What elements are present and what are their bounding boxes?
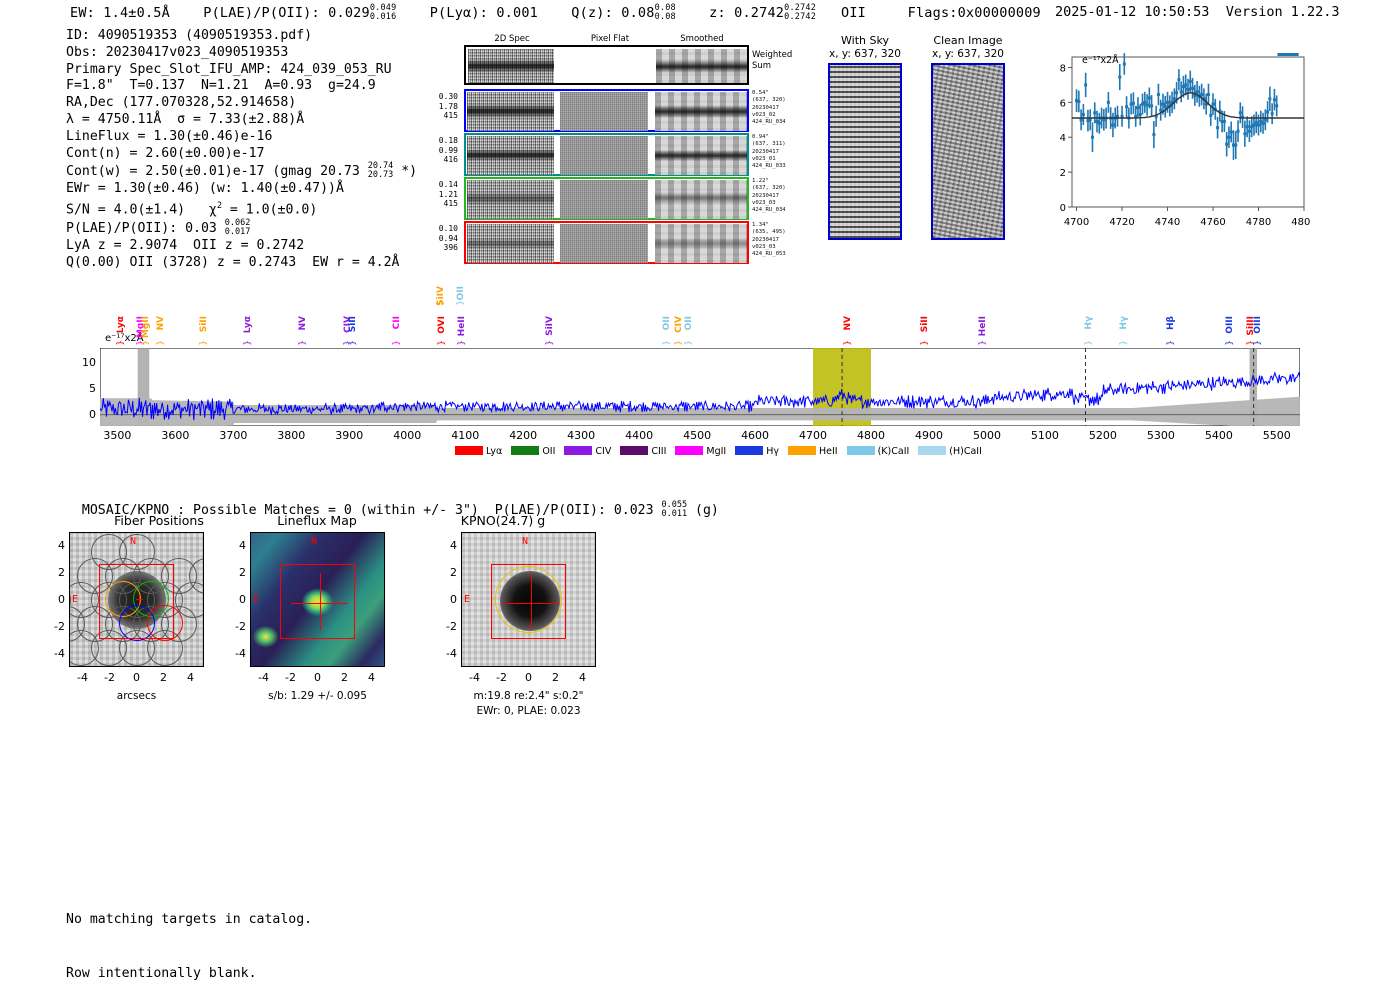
info-q-line: Q(0.00) OII (3728) z = 0.2743 EW r = 4.2… [66,255,417,272]
header-plae-range: 0.0490.016 [370,4,397,21]
legend-entry: MgII [675,446,726,457]
spec-row-2-2dspec [467,136,554,175]
cutout-y-tick: 2 [45,566,65,579]
header-z-label: z: 0.2742 [709,5,784,21]
legend-entry: (K)CaII [847,446,910,457]
main-spectrum-y-tick: 0 [76,408,96,421]
lineflux-map-compass-e: E [253,594,259,605]
main-spectrum-x-tick: 4800 [849,429,893,442]
spec-row-4-smoothed [655,224,747,263]
main-spectrum-x-tick: 4000 [385,429,429,442]
cutout-y-tick: -2 [437,620,457,633]
kpno-aperture-circle [495,566,562,633]
svg-text:4720: 4720 [1109,217,1134,228]
spec-row-2-left-labels: 0.180.99416 [428,136,458,165]
line-id-label: SiIV [545,316,555,336]
panel-title-smoothed: Smoothed [662,34,742,44]
object-info-block: ID: 4090519353 (4090519353.pdf) Obs: 202… [66,28,417,272]
line-id-label: Hγ [1084,316,1094,330]
line-id-bracket: } [1225,340,1235,346]
line-id-bracket: } [199,340,209,346]
fiber-positions-compass-n: N [130,536,136,547]
info-seeing: F=1.8" T=0.137 N=1.21 A=0.93 g=24.9 [66,78,417,95]
legend-label: CIII [651,446,666,457]
legend-label: Lyα [486,446,502,457]
line-id-label: SiII [348,316,358,332]
header-datetime: 2025-01-12 10:50:53 [1055,4,1209,20]
line-id-label: OII [684,316,694,330]
main-spectrum-x-tick: 3500 [95,429,139,442]
line-id-label: SiII [199,316,209,332]
line-id-bracket: } [674,340,684,346]
cutout-x-tick: 2 [152,671,176,684]
line-id-label: NV [843,316,853,331]
main-spectrum-x-tick: 5400 [1197,429,1241,442]
legend-label: Hγ [766,446,779,457]
info-plae: P(LAE)/P(OII): 0.03 0.0620.017 [66,219,417,238]
main-spectrum-x-tick: 4700 [791,429,835,442]
main-spectrum-x-tick: 5000 [965,429,1009,442]
header-version: Version 1.22.3 [1226,4,1340,20]
line-id-label: Lyα [116,316,126,333]
legend-entry: HeII [788,446,838,457]
spec-row-1-2dspec [467,92,554,131]
info-primary-spec: Primary Spec_Slot_IFU_AMP: 424_039_053_R… [66,62,417,79]
line-id-bracket: } [348,340,358,346]
main-spectrum-x-tick: 4200 [501,429,545,442]
spec-row-2 [464,133,749,176]
info-ewr: EWr = 1.30(±0.46) (w: 1.40(±0.47))Å [66,181,417,198]
spec-row-4 [464,221,749,264]
line-id-label: OIII [1225,316,1235,334]
cutout-y-tick: 0 [437,593,457,606]
cutout-x-tick: 0 [517,671,541,684]
cutout-y-tick: -4 [437,647,457,660]
main-spectrum-x-tick: 3900 [327,429,371,442]
info-cont-n: Cont(n) = 2.60(±0.00)e-17 [66,146,417,163]
kpno-image [461,532,596,667]
spec-row-1-left-labels: 0.301.78415 [428,92,458,121]
line-id-label: NV [156,316,166,331]
cutout-clean-image-title: Clean Image [920,34,1016,47]
line-id-bracket: } [1119,340,1129,346]
line-id-label: OII [662,316,672,330]
full-spectrum-svg [100,348,1300,426]
legend-swatch [675,446,703,455]
svg-text:4780: 4780 [1246,217,1271,228]
legend-swatch [511,446,539,455]
line-id-label: MgII [141,316,151,338]
header-timestamp-version: 2025-01-12 10:50:53 Version 1.22.3 [1055,4,1340,20]
header-flags: Flags:0x00000009 [908,5,1041,21]
main-spectrum-x-tick: 3600 [153,429,197,442]
fiber-positions-red-square [99,564,174,639]
header-plya: P(Lyα): 0.001 [430,5,538,21]
cutout-y-tick: -4 [45,647,65,660]
main-spectrum-x-tick: 4600 [733,429,777,442]
legend-entry: OII [511,446,555,457]
legend-swatch [788,446,816,455]
main-spectrum-x-tick: 5500 [1255,429,1299,442]
cutout-y-tick: 0 [226,593,246,606]
legend-swatch [620,446,648,455]
footer-text: No matching targets in catalog. Row inte… [66,875,312,1001]
fiber-positions-xlabel: arcsecs [69,690,204,702]
footer-line-1: No matching targets in catalog. [66,911,312,929]
weighted-sum-smoothed-image [656,49,747,83]
cutout-x-tick: -2 [98,671,122,684]
info-snr: S/N = 4.0(±1.4) χ2 = 1.0(±0.0) [66,198,417,219]
line-id-label: OII [456,286,466,300]
info-id: ID: 4090519353 (4090519353.pdf) [66,28,417,45]
line-id-bracket: } [456,300,466,306]
cutout-with-sky-coords: x, y: 637, 320 [820,48,910,60]
legend-swatch [918,446,946,455]
line-id-bracket: } [243,340,253,346]
cutout-y-tick: 4 [45,539,65,552]
lineflux-map-red-square [280,564,355,639]
cutout-y-tick: 0 [45,593,65,606]
main-spectrum-x-tick: 5200 [1081,429,1125,442]
line-id-bracket: } [1084,340,1094,346]
cutout-x-tick: 2 [544,671,568,684]
cutout-x-tick: -2 [279,671,303,684]
legend-label: MgII [706,446,726,457]
header-z-type: OII [841,5,866,21]
lineflux-map-caption: s/b: 1.29 +/- 0.095 [250,690,385,702]
kpno-compass-e: E [464,594,470,605]
spec-row-3-2dspec [467,180,554,219]
legend-swatch [455,446,483,455]
main-spectrum-y-tick: 5 [76,382,96,395]
line-id-label: Hγ [1119,316,1129,330]
cutout-clean-image-image [931,63,1005,240]
line-id-label: OIII [1253,316,1263,334]
header-ew: EW: 1.4±0.5Å [70,5,170,21]
spec-row-2-pixelflat [560,136,648,175]
line-id-bracket: } [684,340,694,346]
header-plae-label: P(LAE)/P(OII): 0.029 [203,5,370,21]
cutout-x-tick: 0 [125,671,149,684]
legend-entry: (H)CaII [918,446,982,457]
line-id-bracket: } [1166,340,1176,346]
svg-text:4740: 4740 [1155,217,1180,228]
line-id-bracket: } [662,340,672,346]
main-spectrum-x-tick: 5100 [1023,429,1067,442]
svg-text:0: 0 [1060,203,1066,214]
legend-entry: CIII [620,446,666,457]
lineflux-map-title: Lineflux Map [222,513,412,528]
info-obs: Obs: 20230417v023_4090519353 [66,45,417,62]
spec-row-3 [464,177,749,220]
legend-label: (H)CaII [949,446,982,457]
line-id-label: HeII [978,316,988,336]
spec-row-3-smoothed [655,180,747,219]
cutout-clean-image-coords: x, y: 637, 320 [920,48,1016,60]
emission-line-fit-svg: 02468 470047204740476047804800 [1040,53,1310,258]
header-z-range: 0.27420.2742 [784,4,816,21]
line-id-label: Hβ [1166,316,1176,330]
line-id-bracket: } [1253,340,1263,346]
emission-line-fit-plot: 02468 470047204740476047804800 e⁻¹⁷x2Å [1040,53,1310,213]
line-id-bracket: } [392,340,402,346]
legend-entry: Lyα [455,446,502,457]
weighted-sum-label: WeightedSum [752,50,792,71]
line-id-bracket: } [457,340,467,346]
cutout-x-tick: -4 [252,671,276,684]
line-id-bracket: } [436,300,446,306]
inset-ylabel: e⁻¹⁷x2Å [1082,55,1119,66]
line-id-label: CII [392,316,402,329]
spec-row-4-left-labels: 0.100.94396 [428,224,458,253]
main-spectrum-x-tick: 3800 [269,429,313,442]
main-spectrum-x-tick: 5300 [1139,429,1183,442]
svg-text:4800: 4800 [1291,217,1310,228]
line-id-bracket: } [843,340,853,346]
main-spectrum-x-tick: 4100 [443,429,487,442]
spec-row-3-left-labels: 0.141.21415 [428,180,458,209]
spec-row-1-smoothed [655,92,747,131]
lineflux-map-compass-n: N [311,536,317,547]
line-id-label: NV [298,316,308,331]
spec-row-4-2dspec [467,224,554,263]
cutout-y-tick: 2 [437,566,457,579]
spec-row-4-pixelflat [560,224,648,263]
svg-text:4760: 4760 [1200,217,1225,228]
legend-label: CIV [595,446,611,457]
line-id-label: Lyα [243,316,253,333]
line-id-label: CIV [674,316,684,333]
spec-row-1-meta: 0.54"(637, 320)20230417v023_02424_RU_034 [752,90,786,126]
spec-row-2-meta: 0.94"(637, 311)20230417v023_01424_RU_033 [752,134,786,170]
svg-text:4: 4 [1060,133,1066,144]
main-spectrum-x-tick: 3700 [211,429,255,442]
legend-label: OII [542,446,555,457]
cutout-x-tick: -4 [71,671,95,684]
kpno-title: KPNO(24.7) g [408,513,598,528]
legend-swatch [847,446,875,455]
cutout-x-tick: 4 [360,671,384,684]
cutout-y-tick: 4 [437,539,457,552]
main-spectrum-x-tick: 4900 [907,429,951,442]
cutout-y-tick: -2 [45,620,65,633]
legend-entry: CIV [564,446,611,457]
spec-row-4-meta: 1.34"(635, 495)20230417v023_03424_RU_053 [752,222,786,258]
legend-label: HeII [819,446,838,457]
svg-text:6: 6 [1060,98,1066,109]
cutout-x-tick: 0 [306,671,330,684]
kpno-caption-2: EWr: 0, PLAE: 0.023 [441,705,616,717]
line-id-bracket: } [545,340,555,346]
kpno-caption-1: m:19.8 re:2.4" s:0.2" [441,690,616,702]
full-spectrum-plot [100,348,1300,426]
cutout-x-tick: 4 [571,671,595,684]
fiber-positions-compass-e: E [72,594,78,605]
cutout-x-tick: -2 [490,671,514,684]
cutout-with-sky-image [828,63,902,240]
info-lineflux: LineFlux = 1.30(±0.46)e-16 [66,129,417,146]
footer-line-2: Row intentionally blank. [66,965,312,983]
legend-swatch [735,446,763,455]
line-id-bracket: } [116,340,126,346]
line-id-bracket: } [920,340,930,346]
legend-entry: Hγ [735,446,779,457]
header-summary-line: EW: 1.4±0.5Å P(LAE)/P(OII): 0.0290.0490.… [70,4,1041,21]
header-qz-range: 0.080.08 [655,4,676,21]
info-cont-w: Cont(w) = 2.50(±0.01)e-17 (gmag 20.73 20… [66,162,417,181]
header-qz-label: Q(z): 0.08 [571,5,654,21]
cutout-x-tick: 2 [333,671,357,684]
main-spectrum-y-tick: 10 [76,356,96,369]
line-id-bracket: } [978,340,988,346]
spec-row-2-smoothed [655,136,747,175]
cutout-y-tick: 4 [226,539,246,552]
main-spectrum-legend: LyαOIICIVCIIIMgIIHγHeII(K)CaII(H)CaII [455,446,991,457]
spec-row-1 [464,89,749,132]
cutout-y-tick: -2 [226,620,246,633]
spec-row-3-pixelflat [560,180,648,219]
spec-row-1-pixelflat [560,92,648,131]
svg-text:8: 8 [1060,63,1066,74]
line-id-label: SiII [920,316,930,332]
info-lambda: λ = 4750.11Å σ = 7.33(±2.88)Å [66,112,417,129]
weighted-sum-2dspec-image [468,49,554,83]
cutout-y-tick: 2 [226,566,246,579]
fiber-positions-image [69,532,204,667]
cutout-x-tick: -4 [463,671,487,684]
info-redshifts: LyA z = 2.9074 OII z = 0.2742 [66,238,417,255]
line-id-bracket: } [437,340,447,346]
legend-swatch [564,446,592,455]
line-id-bracket: } [156,340,166,346]
weighted-sum-row [464,45,749,85]
kpno-compass-n: N [522,536,528,547]
svg-text:2: 2 [1060,168,1066,179]
cutout-y-tick: -4 [226,647,246,660]
line-id-bracket: } [298,340,308,346]
line-id-label: HeII [457,316,467,336]
svg-text:4700: 4700 [1064,217,1089,228]
spec-row-3-meta: 1.22"(637, 320)20230417v023_03424_RU_034 [752,178,786,214]
lineflux-map-image [250,532,385,667]
panel-title-pixel-flat: Pixel Flat [570,34,650,44]
line-id-bracket: } [141,340,151,346]
cutout-x-tick: 4 [179,671,203,684]
line-id-label: OVI [437,316,447,334]
main-spectrum-x-tick: 4500 [675,429,719,442]
panel-title-2d-spec: 2D Spec [472,34,552,44]
main-spectrum-x-tick: 4400 [617,429,661,442]
legend-label: (K)CaII [878,446,910,457]
info-radec: RA,Dec (177.070328,52.914658) [66,95,417,112]
main-spectrum-x-tick: 4300 [559,429,603,442]
cutout-with-sky-title: With Sky [820,34,910,47]
